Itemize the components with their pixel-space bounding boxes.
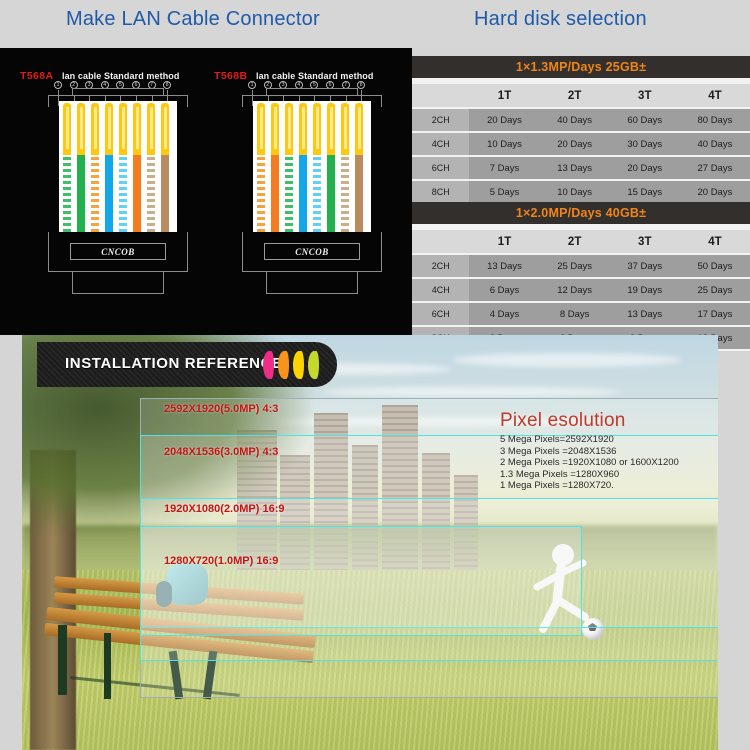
- wire-blue: [299, 101, 307, 232]
- resolution-box-1mp: [140, 526, 582, 636]
- gold-contact: [257, 103, 265, 157]
- days-cell: 40 Days: [680, 132, 750, 156]
- days-cell: 13 Days: [540, 156, 610, 180]
- hdd-capacity-table-2: 1T2T3T4T2CH13 Days25 Days37 Days50 Days4…: [412, 230, 750, 351]
- wire-color: [299, 155, 307, 232]
- resolution-label-1mp: 1280X720(1.0MP) 16:9: [164, 555, 278, 567]
- days-cell: 27 Days: [680, 156, 750, 180]
- column-header: [412, 230, 469, 254]
- channel-label: 4CH: [412, 132, 469, 156]
- days-cell: 20 Days: [610, 156, 680, 180]
- days-cell: 60 Days: [610, 108, 680, 132]
- days-cell: 30 Days: [610, 132, 680, 156]
- wire-white-brown: [341, 101, 349, 232]
- gold-contact: [341, 103, 349, 157]
- installation-reference-banner: INSTALLATION REFERENCE: [37, 342, 337, 387]
- channel-label: 6CH: [412, 302, 469, 326]
- wire-white-green: [285, 101, 293, 232]
- gold-contact: [285, 103, 293, 157]
- standard-code-a: T568A: [20, 70, 54, 82]
- wire-color: [271, 155, 279, 232]
- pixel-resolution-line: 5 Mega Pixels=2592X1920: [500, 434, 715, 446]
- pixel-resolution-line: 1 Mega Pixels =1280X720.: [500, 480, 715, 492]
- brand-logo-b: CNCOB: [264, 243, 360, 260]
- gold-contact: [313, 103, 321, 157]
- page-title-hdd: Hard disk selection: [474, 8, 647, 31]
- column-header: 3T: [610, 230, 680, 254]
- days-cell: 8 Days: [540, 302, 610, 326]
- days-cell: 25 Days: [540, 254, 610, 278]
- wire-brown: [161, 101, 169, 232]
- resolution-label-2mp: 1920X1080(2.0MP) 16:9: [164, 503, 284, 515]
- table-row: 4CH10 Days20 Days30 Days40 Days: [412, 132, 750, 156]
- hdd-table-2-title: 1×2.0MP/Days 40GB±: [412, 202, 750, 224]
- column-header: 1T: [469, 84, 539, 108]
- gold-contact: [271, 103, 279, 157]
- days-cell: 12 Days: [540, 278, 610, 302]
- wire-color: [285, 155, 293, 232]
- cloud-wisp: [452, 353, 682, 367]
- wire-color: [161, 155, 169, 232]
- wire-white-orange: [257, 101, 265, 232]
- table-row: 2CH13 Days25 Days37 Days50 Days: [412, 254, 750, 278]
- days-cell: 7 Days: [469, 156, 539, 180]
- days-cell: 4 Days: [469, 302, 539, 326]
- brand-logo-a: CNCOB: [70, 243, 166, 260]
- table-header-row: 1T2T3T4T: [412, 230, 750, 254]
- page-title-lan: Make LAN Cable Connector: [66, 8, 320, 31]
- wire-color: [133, 155, 141, 232]
- days-cell: 40 Days: [540, 108, 610, 132]
- column-header: 4T: [680, 84, 750, 108]
- column-header: 1T: [469, 230, 539, 254]
- table-row: 6CH7 Days13 Days20 Days27 Days: [412, 156, 750, 180]
- days-cell: 50 Days: [680, 254, 750, 278]
- channel-label: 2CH: [412, 108, 469, 132]
- hdd-table-1: 1×1.3MP/Days 25GB± 1T2T3T4T2CH20 Days40 …: [412, 56, 750, 205]
- days-cell: 6 Days: [469, 278, 539, 302]
- table-row: 6CH4 Days8 Days13 Days17 Days: [412, 302, 750, 326]
- days-cell: 19 Days: [610, 278, 680, 302]
- days-cell: 37 Days: [610, 254, 680, 278]
- wire-white-green: [63, 101, 71, 232]
- days-cell: 25 Days: [680, 278, 750, 302]
- wire-white-blue: [119, 101, 127, 232]
- hdd-capacity-table-1: 1T2T3T4T2CH20 Days40 Days60 Days80 Days4…: [412, 84, 750, 205]
- standard-code-b: T568B: [214, 70, 248, 82]
- column-header: 3T: [610, 84, 680, 108]
- wire-color: [257, 155, 265, 232]
- pixel-resolution-line: 2 Mega Pixels =1920X1080 or 1600X1200: [500, 457, 715, 469]
- gold-contact: [119, 103, 127, 157]
- days-cell: 13 Days: [610, 302, 680, 326]
- wire-color: [63, 155, 71, 232]
- resolution-label-3mp: 2048X1536(3.0MP) 4:3: [164, 446, 278, 458]
- lan-cable-panel: T568A lan cable Standard method 12345678…: [0, 48, 412, 335]
- channel-label: 2CH: [412, 254, 469, 278]
- wire-green: [327, 101, 335, 232]
- bench-leg: [58, 625, 67, 695]
- wire-color: [119, 155, 127, 232]
- pixel-resolution-line: 3 Mega Pixels =2048X1536: [500, 446, 715, 458]
- wire-row-a: [59, 101, 177, 232]
- banner-blade: [278, 351, 289, 379]
- wire-orange: [133, 101, 141, 232]
- pixel-resolution-line: 1.3 Mega Pixels =1280X960: [500, 469, 715, 481]
- wire-blue: [105, 101, 113, 232]
- wire-color: [77, 155, 85, 232]
- banner-label: INSTALLATION REFERENCE: [65, 355, 283, 372]
- wire-brown: [355, 101, 363, 232]
- banner-blade: [263, 351, 274, 379]
- rj45-plug-a: CNCOB: [48, 95, 188, 305]
- table-row: 8CH5 Days10 Days15 Days20 Days: [412, 180, 750, 204]
- pixel-resolution-block: Pixel esolution 5 Mega Pixels=2592X19203…: [500, 410, 715, 492]
- hdd-table-2: 1×2.0MP/Days 40GB± 1T2T3T4T2CH13 Days25 …: [412, 202, 750, 351]
- days-cell: 10 Days: [540, 180, 610, 204]
- column-header: 2T: [540, 84, 610, 108]
- wire-orange: [271, 101, 279, 232]
- table-row: 2CH20 Days40 Days60 Days80 Days: [412, 108, 750, 132]
- wire-white-blue: [313, 101, 321, 232]
- days-cell: 20 Days: [469, 108, 539, 132]
- banner-blade: [293, 351, 304, 379]
- wire-color: [147, 155, 155, 232]
- wire-color: [355, 155, 363, 232]
- bench-leg: [104, 633, 111, 699]
- wire-color: [91, 155, 99, 232]
- wire-white-orange: [91, 101, 99, 232]
- pin-number: 8: [357, 81, 365, 89]
- days-cell: 13 Days: [469, 254, 539, 278]
- wire-color: [341, 155, 349, 232]
- days-cell: 15 Days: [610, 180, 680, 204]
- hdd-table-1-title: 1×1.3MP/Days 25GB±: [412, 56, 750, 78]
- pin-number: 1: [54, 81, 62, 89]
- days-cell: 20 Days: [680, 180, 750, 204]
- table-header-row: 1T2T3T4T: [412, 84, 750, 108]
- gold-contact: [105, 103, 113, 157]
- wire-color: [313, 155, 321, 232]
- days-cell: 20 Days: [540, 132, 610, 156]
- table-row: 4CH6 Days12 Days19 Days25 Days: [412, 278, 750, 302]
- channel-label: 4CH: [412, 278, 469, 302]
- gold-contact: [63, 103, 71, 157]
- connector-diagram-t568a: T568A lan cable Standard method 12345678…: [18, 48, 216, 335]
- column-header: [412, 84, 469, 108]
- page-header: Make LAN Cable Connector Hard disk selec…: [0, 0, 750, 48]
- pin-number: 8: [163, 81, 171, 89]
- connector-diagram-t568b: T568B lan cable Standard method 12345678…: [212, 48, 410, 335]
- channel-label: 6CH: [412, 156, 469, 180]
- days-cell: 10 Days: [469, 132, 539, 156]
- gold-contact: [161, 103, 169, 157]
- plug-latch: [72, 272, 164, 294]
- installation-reference-photo: 2592X1920(5.0MP) 4:3 2048X1536(3.0MP) 4:…: [22, 335, 718, 750]
- resolution-label-5mp: 2592X1920(5.0MP) 4:3: [164, 403, 278, 415]
- cloud-wisp: [322, 387, 622, 397]
- pixel-resolution-lines: 5 Mega Pixels=2592X19203 Mega Pixels =20…: [500, 434, 715, 492]
- wire-green: [77, 101, 85, 232]
- gold-contact: [355, 103, 363, 157]
- wire-white-brown: [147, 101, 155, 232]
- gold-contact: [327, 103, 335, 157]
- pin-number: 1: [248, 81, 256, 89]
- channel-label: 8CH: [412, 180, 469, 204]
- days-cell: 80 Days: [680, 108, 750, 132]
- wire-row-b: [253, 101, 371, 232]
- wire-color: [105, 155, 113, 232]
- plug-latch: [266, 272, 358, 294]
- gold-contact: [133, 103, 141, 157]
- standard-desc-a: lan cable Standard method: [62, 71, 180, 81]
- rj45-plug-b: CNCOB: [242, 95, 382, 305]
- days-cell: 5 Days: [469, 180, 539, 204]
- column-header: 4T: [680, 230, 750, 254]
- banner-blade: [308, 351, 319, 379]
- pixel-resolution-title: Pixel esolution: [500, 410, 715, 432]
- days-cell: 17 Days: [680, 302, 750, 326]
- gold-contact: [77, 103, 85, 157]
- gold-contact: [299, 103, 307, 157]
- standard-desc-b: lan cable Standard method: [256, 71, 374, 81]
- gold-contact: [147, 103, 155, 157]
- gold-contact: [91, 103, 99, 157]
- wire-color: [327, 155, 335, 232]
- column-header: 2T: [540, 230, 610, 254]
